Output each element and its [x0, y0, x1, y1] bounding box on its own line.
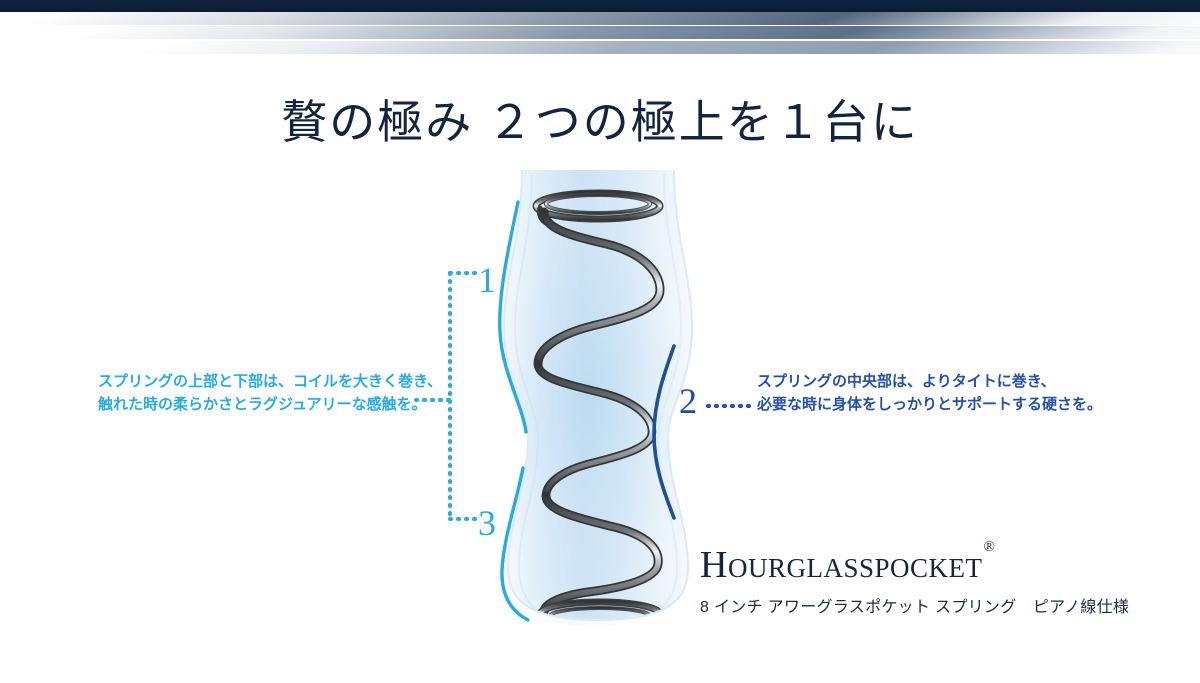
logo-wordmark-text: Hourglasspocket [700, 544, 982, 586]
callout-marker-3: 3 [478, 505, 496, 541]
slide-root: 贅の極み ２つの極上を１台に [0, 0, 1200, 683]
caption-right: スプリングの中央部は、よりタイトに巻き、 必要な時に身体をしっかりとサポートする… [757, 370, 1102, 417]
page-title: 贅の極み ２つの極上を１台に [0, 86, 1200, 152]
caption-left: スプリングの上部と下部は、コイルを大きく巻き、 触れた時の柔らかさとラグジュアリ… [98, 370, 442, 417]
callout-connector-right [706, 396, 754, 402]
caption-right-line1: スプリングの中央部は、よりタイトに巻き、 [757, 370, 1102, 393]
product-logo: Hourglasspocket® 8 インチ アワーグラスポケット スプリング … [700, 546, 1129, 617]
header-stripe-3 [95, 41, 1200, 54]
header-stripe-2 [30, 26, 1200, 39]
registered-trademark-icon: ® [983, 539, 995, 555]
header-stripe-fade [0, 12, 70, 60]
callout-marker-1: 1 [478, 262, 496, 298]
caption-left-line2: 触れた時の柔らかさとラグジュアリーな感触を。 [98, 393, 442, 416]
header-navy-bar [0, 0, 1200, 12]
header-stripe-1 [0, 12, 1200, 25]
caption-left-line1: スプリングの上部と下部は、コイルを大きく巻き、 [98, 370, 442, 393]
header-decoration [0, 0, 1200, 60]
callout-marker-2: 2 [679, 383, 697, 419]
hourglass-spring-illustration [488, 168, 708, 628]
caption-right-line2: 必要な時に身体をしっかりとサポートする硬さを。 [757, 393, 1102, 416]
logo-wordmark: Hourglasspocket® [700, 546, 994, 584]
logo-subtitle: 8 インチ アワーグラスポケット スプリング ピアノ線仕様 [700, 593, 1129, 617]
